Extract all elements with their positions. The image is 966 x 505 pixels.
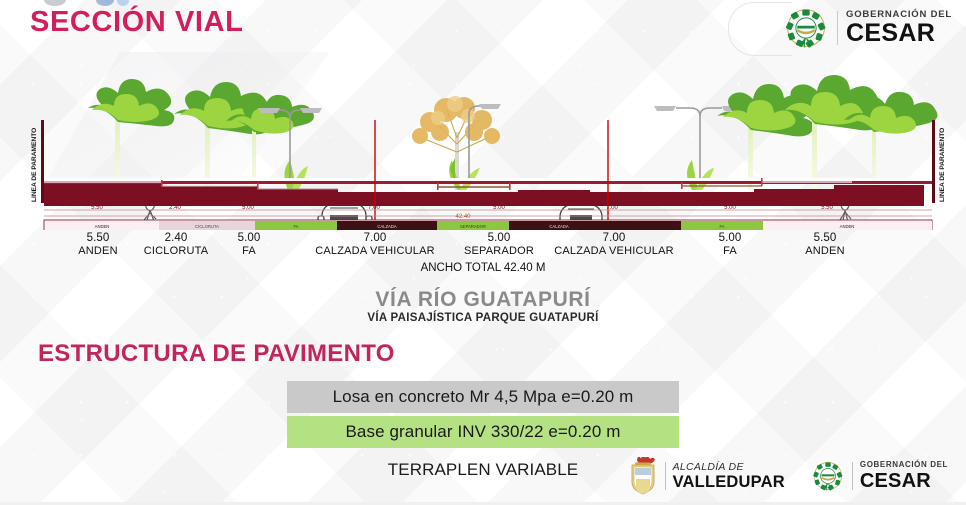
total-width-label: ANCHO TOTAL 42.40 M <box>0 262 966 274</box>
header-gobernacion-logo: GOBERNACIÓN DEL CESAR <box>783 4 952 52</box>
svg-text:CICLORUTA: CICLORUTA <box>195 224 219 229</box>
logo-divider <box>665 462 666 490</box>
svg-text:FA: FA <box>719 224 724 229</box>
svg-text:ANDEN: ANDEN <box>840 224 855 229</box>
pavement-section-title: ESTRUCTURA DE PAVIMENTO <box>38 340 395 368</box>
dimension-label: ANDEN <box>727 245 923 259</box>
footer-logos: ALCALDÍA DE VALLEDUPAR <box>628 457 948 495</box>
paramento-line-right <box>932 120 935 203</box>
svg-text:5.00: 5.00 <box>242 205 254 211</box>
inline-dimension-line: 5.50 2.40 5.00 7.00 5.00 7.00 5.00 5.50 … <box>44 205 932 220</box>
svg-text:CALZADA: CALZADA <box>549 224 569 229</box>
shrub <box>449 158 480 190</box>
page-title: SECCIÓN VIAL <box>30 6 243 39</box>
via-subtitle: VÍA PAISAJÍSTICA PARQUE GUATAPURÍ <box>0 312 966 324</box>
svg-text:2.40: 2.40 <box>169 205 181 211</box>
svg-text:5.50: 5.50 <box>91 205 103 211</box>
pavement-layer-base-granular: Base granular INV 330/22 e=0.20 m <box>287 416 679 448</box>
logo-divider <box>837 11 838 45</box>
section-band-strip: ANDEN CICLORUTA FA CALZADA SEPARADOR CAL… <box>44 220 932 230</box>
pavement-layers: Losa en concreto Mr 4,5 Mpa e=0.20 m Bas… <box>287 381 679 483</box>
dimension-value: 5.50 <box>727 231 923 245</box>
street-lamp <box>258 108 280 113</box>
cesar-seal-icon <box>811 459 845 493</box>
svg-text:5.00: 5.00 <box>493 205 505 211</box>
pavement-profile <box>44 178 932 206</box>
svg-text:ANDEN: ANDEN <box>95 224 110 229</box>
svg-text:5.00: 5.00 <box>724 205 736 211</box>
alcaldia-label-line1: ALCALDÍA DE <box>673 462 785 473</box>
svg-text:5.50: 5.50 <box>821 205 833 211</box>
footer-gobernacion-logo: GOBERNACIÓN DEL CESAR <box>811 459 948 493</box>
gobernacion-label-line2: CESAR <box>846 21 952 46</box>
pavement-layer-concrete: Losa en concreto Mr 4,5 Mpa e=0.20 m <box>287 381 679 413</box>
logo-divider <box>852 462 853 490</box>
street-lamp <box>479 104 501 109</box>
street-lamp <box>654 106 676 111</box>
alcaldia-label-line2: VALLEDUPAR <box>673 474 785 491</box>
svg-text:SEPARADOR: SEPARADOR <box>460 224 486 229</box>
valledupar-shield-icon <box>628 457 658 495</box>
via-title: VÍA RÍO GUATAPURÍ <box>0 288 966 312</box>
gobernacion-footer-line2: CESAR <box>860 470 948 493</box>
road-cross-section: 5.50 2.40 5.00 7.00 5.00 7.00 5.00 5.50 … <box>0 52 966 230</box>
svg-text:CALZADA: CALZADA <box>377 224 397 229</box>
shrub <box>284 160 308 190</box>
paramento-label-left: LINEA DE PARAMENTO <box>31 128 38 202</box>
svg-text:7.00: 7.00 <box>606 205 618 211</box>
svg-text:42.40: 42.40 <box>455 214 471 220</box>
paramento-label-right: LINEA DE PARAMENTO <box>939 128 946 202</box>
pavement-layer-terraplen: TERRAPLEN VARIABLE <box>287 457 679 483</box>
dimension-item: 5.50 ANDEN <box>727 231 923 259</box>
street-lamp <box>300 108 322 113</box>
svg-text:7.00: 7.00 <box>368 205 380 211</box>
svg-text:FA: FA <box>293 224 298 229</box>
paramento-line-left <box>41 120 44 203</box>
cesar-seal-icon <box>783 5 829 51</box>
gobernacion-footer-line1: GOBERNACIÓN DEL <box>860 460 948 469</box>
slide-root: SECCIÓN VIAL GOBERNACI <box>0 0 966 505</box>
cross-section-svg: 5.50 2.40 5.00 7.00 5.00 7.00 5.00 5.50 … <box>0 52 966 230</box>
footer-alcaldia-logo: ALCALDÍA DE VALLEDUPAR <box>628 457 785 495</box>
street-lamp <box>676 108 722 184</box>
